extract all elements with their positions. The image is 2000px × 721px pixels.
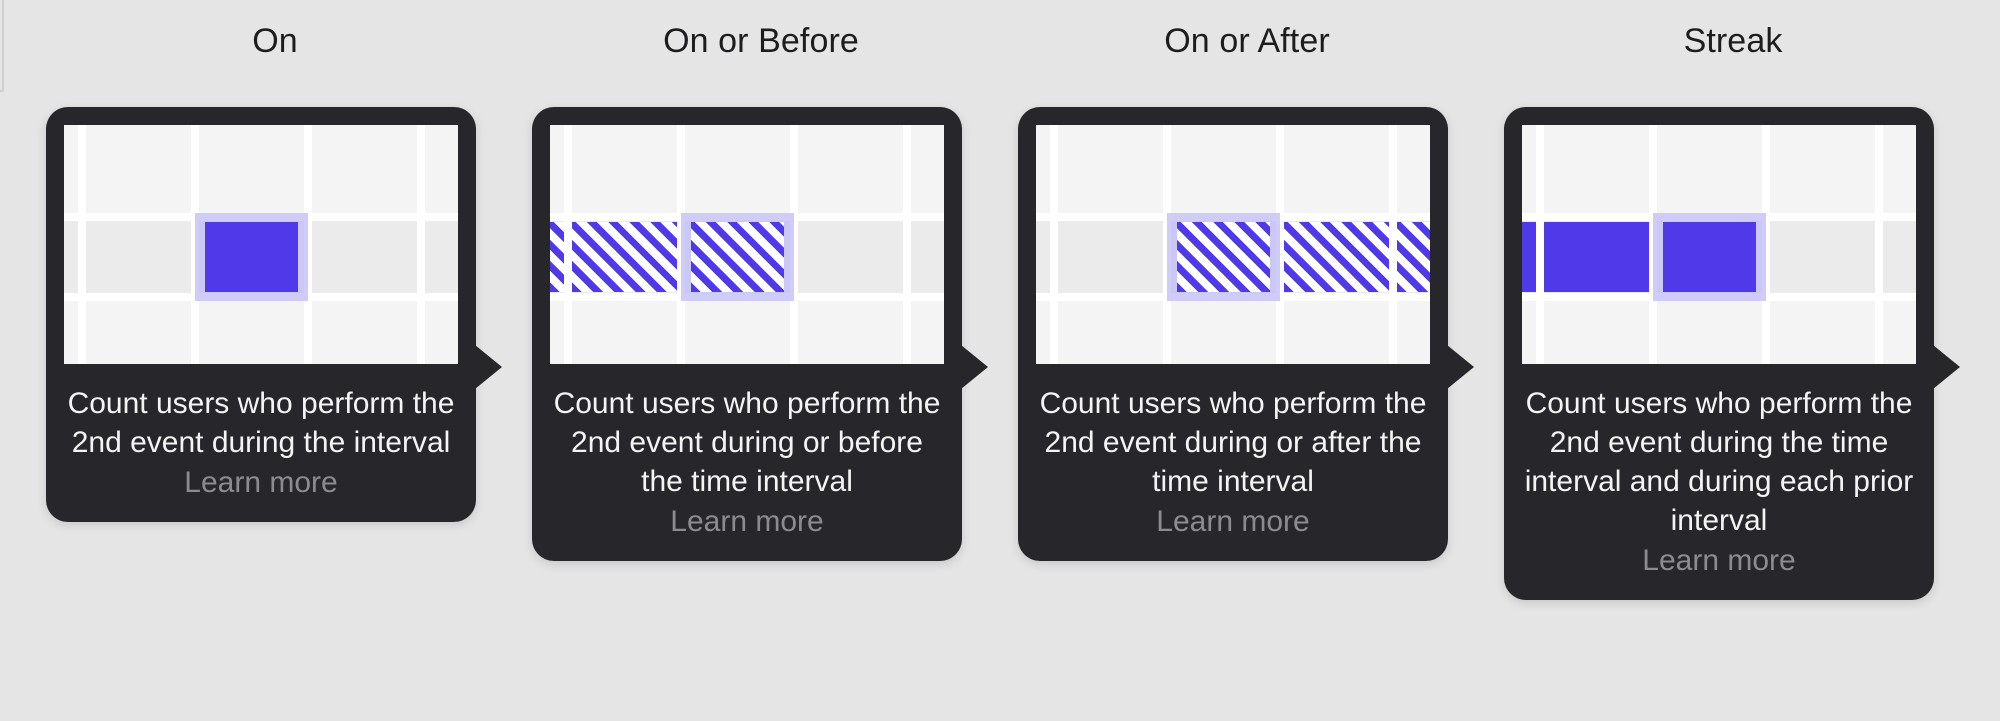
- learn-more-link-on-or-before[interactable]: Learn more: [670, 502, 823, 541]
- column-headers: On On or Before On or After Streak: [0, 0, 2000, 90]
- card-on[interactable]: Count users who perform the 2nd event du…: [46, 107, 476, 522]
- card-on-or-after[interactable]: Count users who perform the 2nd event du…: [1018, 107, 1448, 561]
- diagram-highlight-streak: [1653, 213, 1766, 301]
- diagram-on-or-after: [1036, 125, 1430, 364]
- comparison-cards-panel: On On or Before On or After Streak: [0, 0, 2000, 721]
- card-pointer-arrow-on-or-before: [961, 345, 988, 389]
- diagram-bar-before-1: [572, 222, 677, 292]
- card-pointer-arrow-on: [475, 345, 502, 389]
- card-on-or-before[interactable]: Count users who perform the 2nd event du…: [532, 107, 962, 561]
- card-streak[interactable]: Count users who perform the 2nd event du…: [1504, 107, 1934, 600]
- card-pointer-arrow-on-or-after: [1447, 345, 1474, 389]
- card-description-streak: Count users who perform the 2nd event du…: [1522, 384, 1916, 540]
- card-description-on: Count users who perform the 2nd event du…: [64, 384, 458, 462]
- diagram-bar-after-2: [1177, 222, 1270, 292]
- learn-more-link-streak[interactable]: Learn more: [1642, 541, 1795, 580]
- diagram-bar-after-3: [1284, 222, 1389, 292]
- learn-more-link-on-or-after[interactable]: Learn more: [1156, 502, 1309, 541]
- diagram-bar-streak-1: [1544, 222, 1649, 292]
- diagram-bar-streak-0: [1522, 222, 1536, 292]
- diagram-on-or-before: [550, 125, 944, 364]
- diagram-bar-streak-2: [1663, 222, 1756, 292]
- diagram-streak: [1522, 125, 1916, 364]
- column-header-on: On: [252, 22, 298, 61]
- diagram-bar-before-0: [550, 222, 564, 292]
- diagram-highlight-on-or-before: [681, 213, 794, 301]
- header-divider-horizontal: [0, 90, 4, 92]
- card-description-on-or-after: Count users who perform the 2nd event du…: [1036, 384, 1430, 501]
- card-description-on-or-before: Count users who perform the 2nd event du…: [550, 384, 944, 501]
- column-header-streak: Streak: [1684, 22, 1783, 61]
- diagram-bar-on: [205, 222, 298, 292]
- column-header-on-or-after: On or After: [1164, 22, 1330, 61]
- card-pointer-arrow-streak: [1933, 345, 1960, 389]
- column-header-on-or-before: On or Before: [663, 22, 859, 61]
- diagram-bar-before-2: [691, 222, 784, 292]
- learn-more-link-on[interactable]: Learn more: [184, 463, 337, 502]
- diagram-bar-after-4: [1397, 222, 1430, 292]
- diagram-highlight-on: [195, 213, 308, 301]
- diagram-on: [64, 125, 458, 364]
- diagram-highlight-on-or-after: [1167, 213, 1280, 301]
